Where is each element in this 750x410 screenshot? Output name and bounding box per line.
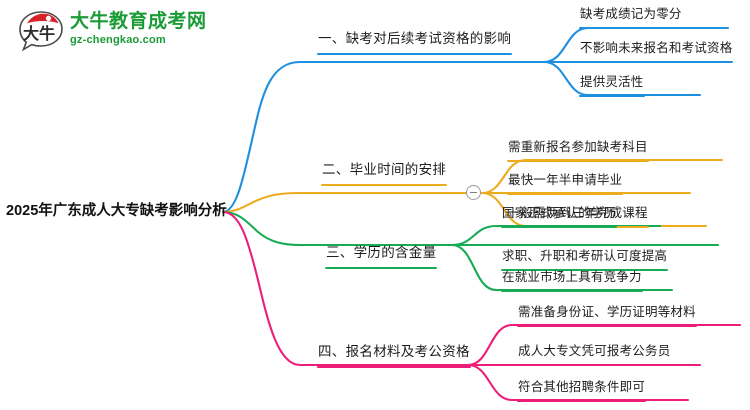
leaf-node-2-1-label[interactable]: 需重新报名参加缺考科目 xyxy=(508,141,648,154)
leaf-node-4-1-label[interactable]: 需准备身份证、学历证明等材料 xyxy=(518,306,696,319)
leaf-node-3-3-label[interactable]: 在就业市场上具有竞争力 xyxy=(502,271,642,284)
branch-1-links xyxy=(223,28,730,212)
leaf-node-4-3-label[interactable]: 符合其他招聘条件即可 xyxy=(518,381,645,394)
leaf-node-1-3-label[interactable]: 提供灵活性 xyxy=(580,76,644,89)
branch-node-2-label[interactable]: 二、毕业时间的安排 xyxy=(322,163,446,177)
branch-node-4-label[interactable]: 四、报名材料及考公资格 xyxy=(318,345,470,359)
collapse-toggle-branch-2[interactable] xyxy=(466,185,481,200)
leaf-node-2-2-label[interactable]: 最快一年半申请毕业 xyxy=(508,174,622,187)
branch-node-1-label[interactable]: 一、缺考对后续考试资格的影响 xyxy=(318,32,511,46)
root-node-label[interactable]: 2025年广东成人大专缺考影响分析 xyxy=(6,204,227,219)
leaf-node-3-1-label[interactable]: 国家正式承认的学历 xyxy=(502,207,616,220)
mindmap-canvas: 大牛 大牛教育成考网 gz-chengkao.com xyxy=(0,0,750,410)
branch-node-3-label[interactable]: 三、学历的含金量 xyxy=(326,246,436,260)
leaf-node-1-2-label[interactable]: 不影响未来报名和考试资格 xyxy=(580,42,732,55)
leaf-node-4-2-label[interactable]: 成人大专文凭可报考公务员 xyxy=(518,345,670,358)
leaf-node-1-1-label[interactable]: 缺考成绩记为零分 xyxy=(580,8,682,21)
leaf-node-3-2-label[interactable]: 求职、升职和考研认可度提高 xyxy=(502,250,667,263)
